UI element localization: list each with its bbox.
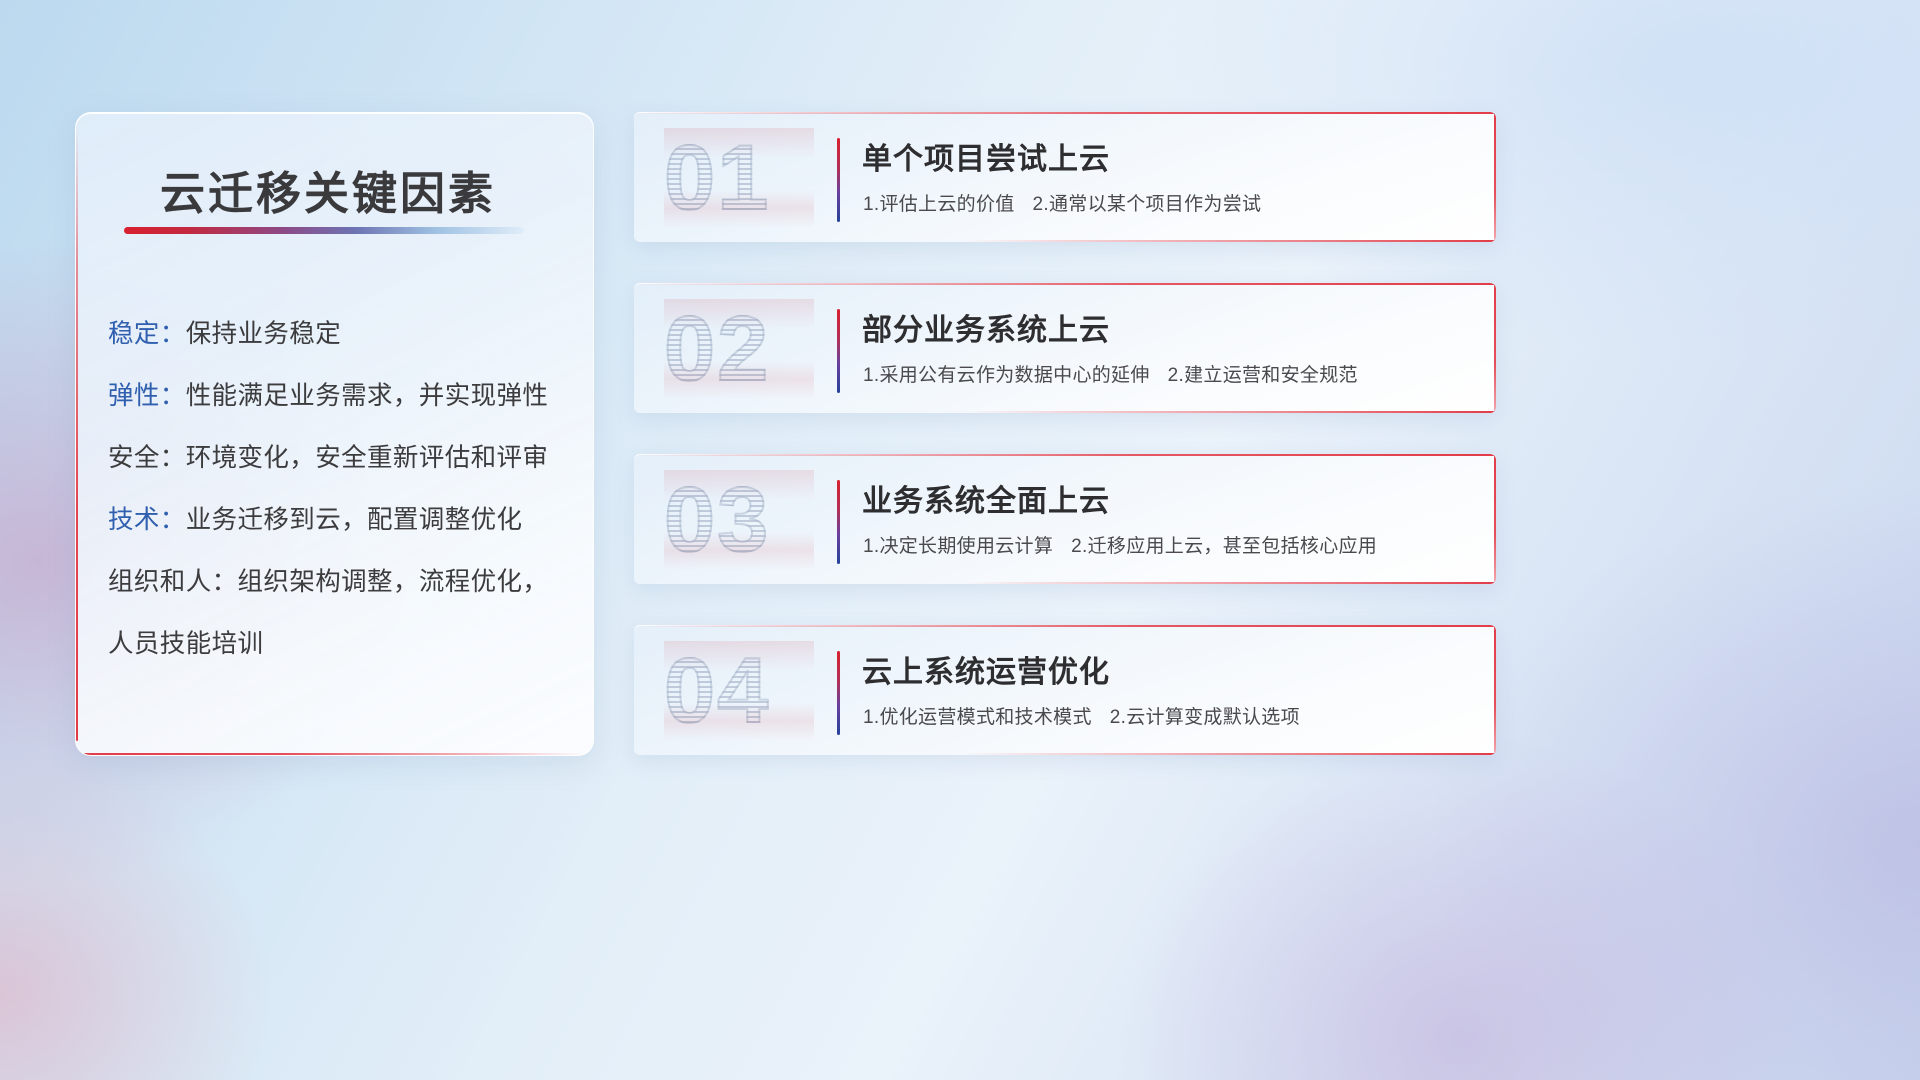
list-item: 弹性：性能满足业务需求，并实现弹性 <box>108 365 579 427</box>
card-bottom-accent <box>962 753 1496 755</box>
card-title: 云上系统运营优化 <box>862 647 1110 691</box>
stage-card-01[interactable]: 01 单个项目尝试上云 1.评估上云的价值2.通常以某个项目作为尝试 <box>634 112 1496 242</box>
card-description: 1.优化运营模式和技术模式2.云计算变成默认选项 <box>863 702 1300 729</box>
card-bottom-accent <box>962 582 1496 584</box>
stage-number: 02 <box>664 299 814 399</box>
card-bottom-accent <box>962 411 1496 413</box>
list-item: 人员技能培训 <box>108 613 579 675</box>
card-description-part-2: 2.迁移应用上云，甚至包括核心应用 <box>1071 536 1377 557</box>
stage-number: 04 <box>664 641 814 741</box>
list-item-label: 组织和人： <box>108 568 238 596</box>
stage-number: 01 <box>664 128 814 228</box>
stage-card-04[interactable]: 04 云上系统运营优化 1.优化运营模式和技术模式2.云计算变成默认选项 <box>634 625 1496 755</box>
card-description: 1.评估上云的价值2.通常以某个项目作为尝试 <box>863 189 1261 216</box>
list-item-text: 人员技能培训 <box>108 630 263 658</box>
list-item: 技术：业务迁移到云，配置调整优化 <box>108 489 579 551</box>
list-item: 组织和人：组织架构调整，流程优化， <box>108 551 579 613</box>
list-item-text: 业务迁移到云，配置调整优化 <box>186 506 523 534</box>
key-factors-panel: 云迁移关键因素 稳定：保持业务稳定 弹性：性能满足业务需求，并实现弹性 安全：环… <box>75 112 594 756</box>
card-description: 1.采用公有云作为数据中心的延伸2.建立运营和安全规范 <box>863 360 1358 387</box>
stage-card-03[interactable]: 03 业务系统全面上云 1.决定长期使用云计算2.迁移应用上云，甚至包括核心应用 <box>634 454 1496 584</box>
page-title: 云迁移关键因素 <box>160 157 496 222</box>
list-item-text: 性能满足业务需求，并实现弹性 <box>186 382 549 410</box>
card-title: 业务系统全面上云 <box>862 476 1110 520</box>
panel-bottom-accent-bar <box>84 753 585 755</box>
panel-left-accent-bar <box>76 127 78 741</box>
list-item: 稳定：保持业务稳定 <box>108 303 579 365</box>
card-description-part-2: 2.云计算变成默认选项 <box>1110 707 1300 728</box>
card-right-accent <box>1494 625 1496 755</box>
card-description-part-1: 1.采用公有云作为数据中心的延伸 <box>863 365 1150 386</box>
card-title: 单个项目尝试上云 <box>862 134 1110 178</box>
list-item-label: 弹性： <box>108 382 186 410</box>
card-description-part-1: 1.优化运营模式和技术模式 <box>863 707 1092 728</box>
card-top-accent <box>634 283 1496 285</box>
card-top-accent <box>634 625 1496 627</box>
stage-card-02[interactable]: 02 部分业务系统上云 1.采用公有云作为数据中心的延伸2.建立运营和安全规范 <box>634 283 1496 413</box>
stage-number: 03 <box>664 470 814 570</box>
stage-card-list: 01 单个项目尝试上云 1.评估上云的价值2.通常以某个项目作为尝试 02 部分… <box>634 112 1496 796</box>
card-description: 1.决定长期使用云计算2.迁移应用上云，甚至包括核心应用 <box>863 531 1377 558</box>
card-description-part-1: 1.评估上云的价值 <box>863 194 1015 215</box>
card-bottom-accent <box>962 240 1496 242</box>
card-gradient-divider <box>837 651 840 735</box>
title-gradient-underline <box>124 227 524 234</box>
card-right-accent <box>1494 283 1496 413</box>
card-top-accent <box>634 454 1496 456</box>
list-item-label: 稳定： <box>108 320 186 348</box>
card-gradient-divider <box>837 309 840 393</box>
card-top-accent <box>634 112 1496 114</box>
card-title: 部分业务系统上云 <box>862 305 1110 349</box>
list-item-text: 保持业务稳定 <box>186 320 341 348</box>
list-item-text: 组织架构调整，流程优化， <box>238 568 549 596</box>
card-description-part-2: 2.通常以某个项目作为尝试 <box>1033 194 1262 215</box>
list-item: 安全：环境变化，安全重新评估和评审 <box>108 427 579 489</box>
list-item-label: 技术： <box>108 506 186 534</box>
list-item-text: 环境变化，安全重新评估和评审 <box>186 444 549 472</box>
card-description-part-1: 1.决定长期使用云计算 <box>863 536 1053 557</box>
key-factors-list: 稳定：保持业务稳定 弹性：性能满足业务需求，并实现弹性 安全：环境变化，安全重新… <box>108 303 579 675</box>
card-right-accent <box>1494 112 1496 242</box>
slide-canvas: 云迁移关键因素 稳定：保持业务稳定 弹性：性能满足业务需求，并实现弹性 安全：环… <box>0 0 1920 1080</box>
card-right-accent <box>1494 454 1496 584</box>
card-description-part-2: 2.建立运营和安全规范 <box>1168 365 1358 386</box>
card-gradient-divider <box>837 138 840 222</box>
card-gradient-divider <box>837 480 840 564</box>
list-item-label: 安全： <box>108 444 186 472</box>
